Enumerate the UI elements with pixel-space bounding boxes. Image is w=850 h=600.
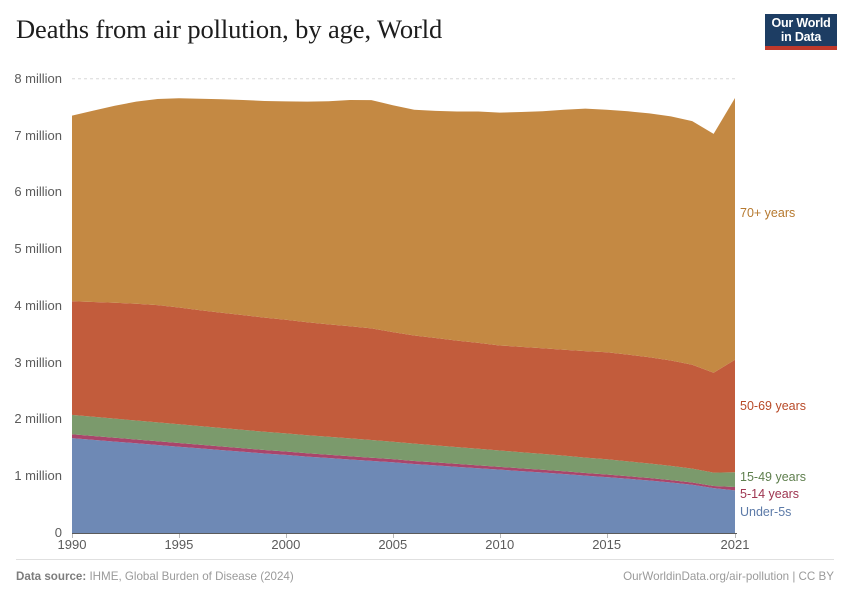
x-axis-tick-label: 2000 [256,537,316,552]
series-label-under-5s[interactable]: Under-5s [740,505,791,519]
series-label-15-49-years[interactable]: 15-49 years [740,470,806,484]
plot-svg [72,56,735,533]
footer-source-text: IHME, Global Burden of Disease (2024) [86,570,294,583]
owid-logo[interactable]: Our World in Data [765,14,837,50]
x-axis-tick-label: 1990 [42,537,102,552]
y-axis-tick-label: 7 million [0,128,62,143]
page-title: Deaths from air pollution, by age, World [16,14,442,45]
series-label-5-14-years[interactable]: 5-14 years [740,487,799,501]
x-axis-tick-label: 1995 [149,537,209,552]
y-axis-tick-label: 4 million [0,298,62,313]
series-label-70-years[interactable]: 70+ years [740,206,795,220]
logo-line-1: Our World [765,17,837,31]
y-axis-tick-label: 3 million [0,355,62,370]
footer-attribution[interactable]: OurWorldinData.org/air-pollution | CC BY [623,570,834,583]
y-axis-tick-label: 5 million [0,241,62,256]
stacked-area-plot[interactable] [72,56,735,533]
x-axis-line [72,533,737,534]
footer-source: Data source: IHME, Global Burden of Dise… [16,570,294,583]
footer-source-label: Data source: [16,570,86,583]
y-axis-tick-label: 8 million [0,71,62,86]
logo-line-2: in Data [765,31,837,45]
x-axis-tick-label: 2015 [577,537,637,552]
footer-divider [16,559,834,560]
chart-page: Deaths from air pollution, by age, World… [0,0,850,600]
x-axis-tick-label: 2010 [470,537,530,552]
x-axis-tick-label: 2021 [705,537,765,552]
y-axis-tick-label: 6 million [0,184,62,199]
series-label-50-69-years[interactable]: 50-69 years [740,399,806,413]
x-axis-tick-label: 2005 [363,537,423,552]
y-axis-tick-label: 2 million [0,411,62,426]
y-axis-tick-label: 1 million [0,468,62,483]
